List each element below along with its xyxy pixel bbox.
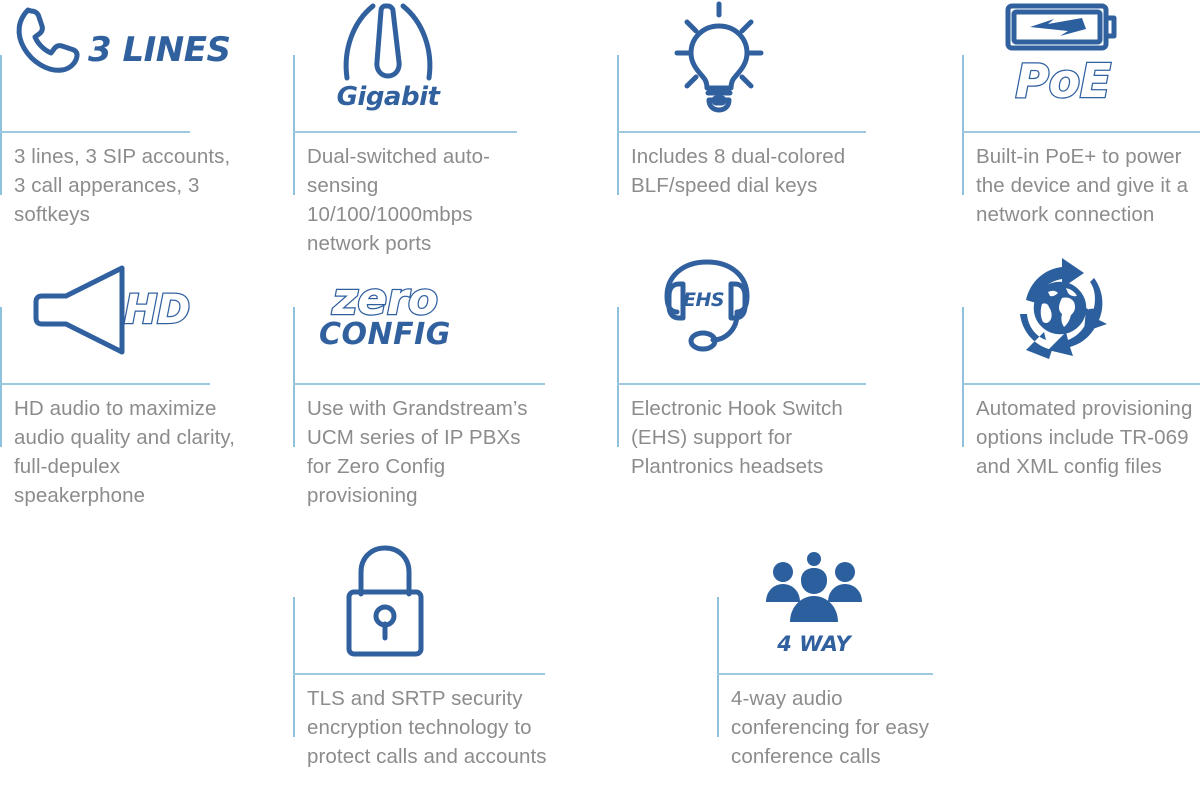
icon-area (962, 252, 1200, 372)
accent-rule-horizontal (0, 131, 190, 133)
feature-card-blf-keys: Includes 8 dual-colored BLF/speed dial k… (617, 0, 887, 120)
accent-rule-horizontal (293, 673, 545, 675)
phone-handset-icon (14, 0, 84, 78)
feature-card-gigabit: Gigabit Dual-switched auto-sensing 10/10… (293, 0, 543, 120)
accent-rule-horizontal (0, 383, 210, 385)
icon-area: HD (0, 252, 240, 372)
wordmark-hd: HD (124, 287, 190, 333)
wordmark-ehs: EHS (683, 289, 724, 311)
feature-description: Includes 8 dual-colored BLF/speed dial k… (631, 142, 887, 200)
icon-area: zero CONFIG (293, 252, 543, 372)
feature-description: Use with Grandstream’s UCM series of IP … (307, 394, 543, 510)
wordmark-three-lines: 3 LINES (88, 30, 230, 70)
feature-description: Built-in PoE+ to power the device and gi… (976, 142, 1200, 229)
globe-refresh-icon (1004, 252, 1116, 364)
feature-card-ehs: EHS Electronic Hook Switch (EHS) support… (617, 252, 887, 372)
feature-description: Dual-switched auto-sensing 10/100/1000mb… (307, 142, 543, 258)
feature-card-provisioning: Automated provisioning options include T… (962, 252, 1200, 372)
feature-card-poe: PoE Built-in PoE+ to power the device an… (962, 0, 1200, 120)
accent-rule-horizontal (293, 131, 517, 133)
feature-description: HD audio to maximize audio quality and c… (14, 394, 240, 510)
accent-rule-horizontal (617, 131, 866, 133)
accent-rule-horizontal (962, 383, 1200, 385)
feature-card-security: TLS and SRTP security encryption technol… (293, 542, 563, 662)
battery-bolt-icon (1004, 0, 1122, 54)
feature-description: TLS and SRTP security encryption technol… (307, 684, 563, 771)
feature-card-hd-audio: HD HD audio to maximize audio quality an… (0, 252, 240, 372)
light-bulb-icon (655, 0, 783, 118)
icon-area: 4 WAY (717, 542, 967, 662)
icon-area (617, 0, 887, 120)
speedometer-gauge-icon (335, 0, 441, 82)
icon-area: EHS (617, 252, 887, 372)
icon-area (293, 542, 563, 662)
icon-area: Gigabit (293, 0, 543, 120)
accent-rule-horizontal (293, 383, 545, 385)
accent-rule-horizontal (717, 673, 933, 675)
feature-card-three-lines: 3 LINES 3 lines, 3 SIP accounts, 3 call … (0, 0, 240, 120)
people-group-icon (763, 550, 865, 632)
accent-rule-horizontal (617, 383, 866, 385)
icon-area: PoE (962, 0, 1200, 120)
feature-grid: 3 LINES 3 lines, 3 SIP accounts, 3 call … (0, 0, 1200, 792)
wordmark-four-way: 4 WAY (777, 632, 850, 656)
feature-description: Automated provisioning options include T… (976, 394, 1200, 481)
wordmark-gigabit: Gigabit (337, 82, 440, 112)
feature-card-conferencing: 4 WAY 4-way audio conferencing for easy … (717, 542, 967, 662)
icon-area: 3 LINES (0, 0, 240, 120)
feature-card-zero-config: zero CONFIG Use with Grandstream’s UCM s… (293, 252, 543, 372)
wordmark-config: CONFIG (319, 317, 451, 352)
wordmark-poe: PoE (1015, 54, 1110, 108)
feature-description: 3 lines, 3 SIP accounts, 3 call apperanc… (14, 142, 240, 229)
feature-description: Electronic Hook Switch (EHS) support for… (631, 394, 887, 481)
padlock-icon (337, 542, 433, 660)
accent-rule-horizontal (962, 131, 1200, 133)
feature-description: 4-way audio conferencing for easy confer… (731, 684, 967, 771)
